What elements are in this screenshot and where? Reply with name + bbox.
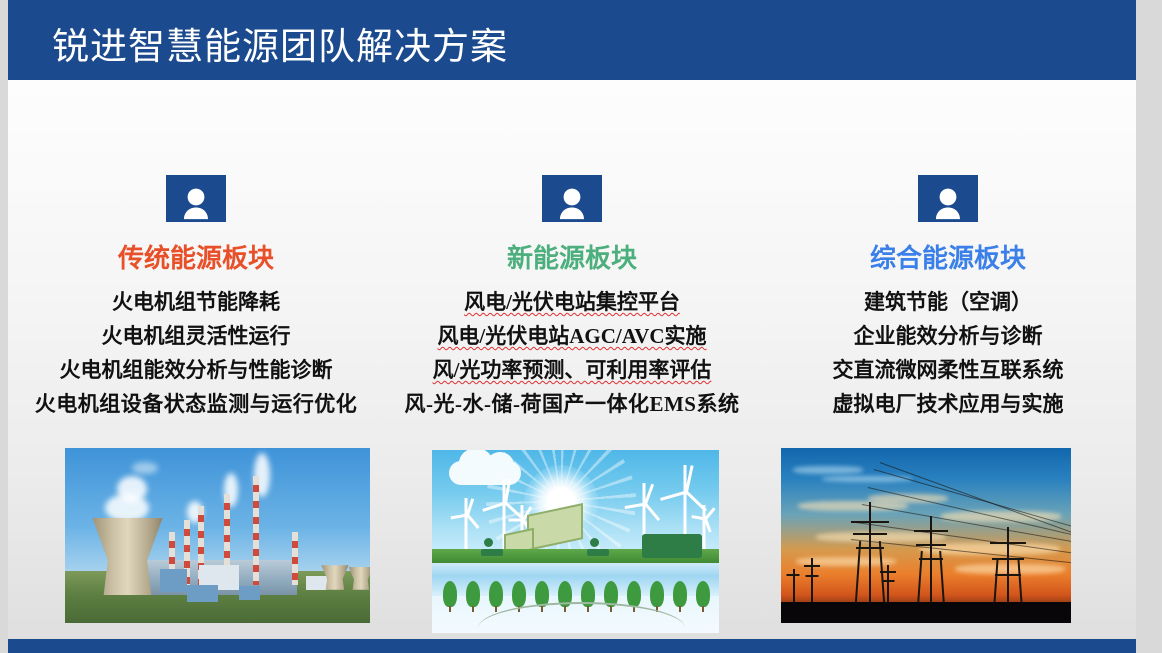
column-list-integrated-energy: 建筑节能（空调） 企业能效分析与诊断 交直流微网柔性互联系统 虚拟电厂技术应用与… — [760, 285, 1136, 421]
list-item: 风电/光伏电站AGC/AVC实施 — [384, 319, 760, 353]
column-list-new-energy: 风电/光伏电站集控平台 风电/光伏电站AGC/AVC实施 风/光功率预测、可利用… — [384, 285, 760, 421]
list-item: 企业能效分析与诊断 — [760, 319, 1136, 353]
slide-canvas: 锐进智慧能源团队解决方案 传统能源板块 火电机组节能降耗 火电机组灵活性运行 火… — [8, 0, 1136, 653]
person-icon — [918, 175, 978, 222]
green-energy-illustration — [432, 450, 719, 633]
columns-container: 传统能源板块 火电机组节能降耗 火电机组灵活性运行 火电机组能效分析与性能诊断 … — [8, 80, 1136, 640]
list-item: 风/光功率预测、可利用率评估 — [384, 353, 760, 387]
page-title: 锐进智慧能源团队解决方案 — [52, 16, 508, 70]
list-item: 风电/光伏电站集控平台 — [384, 285, 760, 319]
thermal-power-plant-photo — [65, 448, 370, 623]
slide-header-bar: 锐进智慧能源团队解决方案 — [8, 0, 1136, 80]
list-item: 虚拟电厂技术应用与实施 — [760, 387, 1136, 421]
list-item: 火电机组设备状态监测与运行优化 — [8, 387, 384, 421]
slide-footer-bar — [8, 639, 1136, 653]
column-title-new-energy: 新能源板块 — [384, 238, 760, 275]
column-title-traditional-energy: 传统能源板块 — [8, 238, 384, 275]
column-traditional-energy: 传统能源板块 火电机组节能降耗 火电机组灵活性运行 火电机组能效分析与性能诊断 … — [8, 80, 384, 640]
list-item: 火电机组节能降耗 — [8, 285, 384, 319]
column-integrated-energy: 综合能源板块 建筑节能（空调） 企业能效分析与诊断 交直流微网柔性互联系统 虚拟… — [760, 80, 1136, 640]
list-item: 火电机组灵活性运行 — [8, 319, 384, 353]
column-new-energy: 新能源板块 风电/光伏电站集控平台 风电/光伏电站AGC/AVC实施 风/光功率… — [384, 80, 760, 640]
person-icon — [166, 175, 226, 222]
list-item: 火电机组能效分析与性能诊断 — [8, 353, 384, 387]
list-item: 交直流微网柔性互联系统 — [760, 353, 1136, 387]
list-item: 风-光-水-储-荷国产一体化EMS系统 — [384, 387, 760, 421]
power-transmission-sunset-photo — [781, 448, 1071, 623]
column-list-traditional-energy: 火电机组节能降耗 火电机组灵活性运行 火电机组能效分析与性能诊断 火电机组设备状… — [8, 285, 384, 421]
list-item: 建筑节能（空调） — [760, 285, 1136, 319]
person-icon — [542, 175, 602, 222]
column-title-integrated-energy: 综合能源板块 — [760, 238, 1136, 275]
